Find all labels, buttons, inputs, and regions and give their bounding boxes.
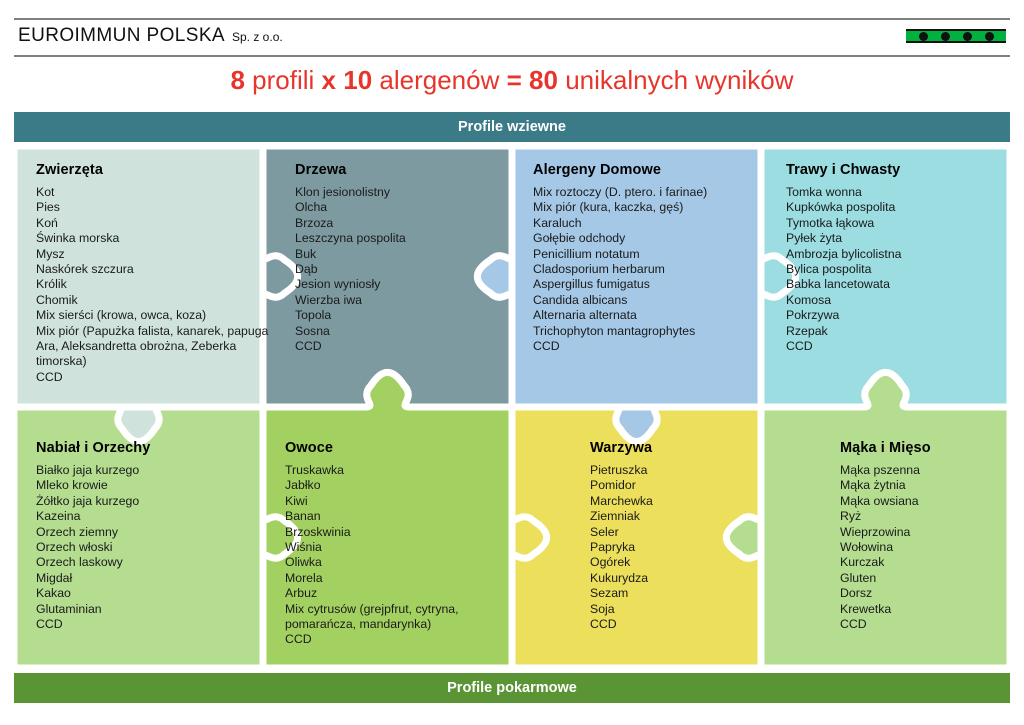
allergen-item: Tomka wonna (786, 185, 1001, 200)
allergen-item: Banan (285, 509, 500, 524)
allergen-list: Białko jaja kurzegoMleko krowieŻółtko ja… (36, 463, 271, 632)
allergen-item: CCD (285, 632, 500, 647)
allergen-item: Mąka pszenna (840, 463, 1015, 478)
allergen-item: Tymotka łąkowa (786, 216, 1001, 231)
allergen-item: Królik (36, 277, 271, 292)
headline-profiles-count: 8 (230, 65, 244, 95)
allergen-item: CCD (786, 339, 1001, 354)
company-legal-form: Sp. z o.o. (232, 30, 283, 44)
piece-title: Owoce (285, 440, 500, 456)
banner-top-label: Profile wziewne (458, 119, 566, 135)
allergen-item: Arbuz (285, 586, 500, 601)
allergen-item: Mix piór (kura, kaczka, gęś) (533, 200, 773, 215)
piece-text-trawy-i-chwasty: Trawy i Chwasty Tomka wonnaKupkówka posp… (786, 162, 1001, 354)
logo-dot-icon (985, 32, 994, 41)
allergen-item: Papryka (590, 540, 780, 555)
allergen-item: Mix cytrusów (grejpfrut, cytryna, pomara… (285, 602, 500, 633)
allergen-item: Alternaria alternata (533, 308, 773, 323)
allergen-item: Kot (36, 185, 271, 200)
headline-allergens-count: 10 (343, 65, 372, 95)
allergen-item: Penicillium notatum (533, 247, 773, 262)
allergen-item: Soja (590, 602, 780, 617)
allergen-item: Kurczak (840, 555, 1015, 570)
allergen-item: Gluten (840, 571, 1015, 586)
allergen-list: PietruszkaPomidorMarchewkaZiemniakSelerP… (590, 463, 780, 632)
allergen-item: Truskawka (285, 463, 500, 478)
allergen-item: Cladosporium herbarum (533, 262, 773, 277)
allergen-item: Kakao (36, 586, 271, 601)
allergen-item: Ryż (840, 509, 1015, 524)
allergen-item: Wiśnia (285, 540, 500, 555)
allergen-item: Marchewka (590, 494, 780, 509)
allergen-item: Trichophyton mantagrophytes (533, 324, 773, 339)
allergen-item: Sosna (295, 324, 505, 339)
header-rule-bottom (14, 55, 1010, 57)
allergen-item: Pomidor (590, 478, 780, 493)
allergen-item: Buk (295, 247, 505, 262)
allergen-item: Babka lancetowata (786, 277, 1001, 292)
euroimmun-logo (906, 29, 1006, 43)
logo-dot-icon (919, 32, 928, 41)
headline-equals-sign: = (507, 65, 522, 95)
headline-results-word: unikalnych wyników (565, 65, 793, 95)
allergen-item: Aspergillus fumigatus (533, 277, 773, 292)
allergen-item: Koń (36, 216, 271, 231)
company-brand: EUROIMMUN POLSKASp. z o.o. (18, 25, 283, 47)
allergen-item: Kukurydza (590, 571, 780, 586)
header-rule-top (14, 18, 1010, 20)
allergen-item: Ambrozja bylicolistna (786, 247, 1001, 262)
allergen-item: Glutaminian (36, 602, 271, 617)
allergen-item: Mąka żytnia (840, 478, 1015, 493)
allergen-list: Klon jesionolistnyOlchaBrzozaLeszczyna p… (295, 185, 505, 354)
allergen-item: CCD (36, 617, 271, 632)
allergen-item: Orzech włoski (36, 540, 271, 555)
allergen-item: Świnka morska (36, 231, 271, 246)
allergen-item: Orzech laskowy (36, 555, 271, 570)
allergen-item: Gołębie odchody (533, 231, 773, 246)
allergen-item: Mysz (36, 247, 271, 262)
allergen-item: Kazeina (36, 509, 271, 524)
allergen-item: Dorsz (840, 586, 1015, 601)
allergen-item: Pyłek żyta (786, 231, 1001, 246)
allergen-item: Wieprzowina (840, 525, 1015, 540)
allergen-item: Mix piór (Papużka falista, kanarek, papu… (36, 324, 271, 370)
allergen-item: Dąb (295, 262, 505, 277)
allergen-item: Candida albicans (533, 293, 773, 308)
piece-title: Alergeny Domowe (533, 162, 773, 178)
allergen-item: Topola (295, 308, 505, 323)
headline-results-count: 80 (529, 65, 558, 95)
piece-title: Drzewa (295, 162, 505, 178)
allergen-item: Bylica pospolita (786, 262, 1001, 277)
allergen-list: Mąka pszennaMąka żytniaMąka owsianaRyżWi… (840, 463, 1015, 632)
piece-text-warzywa: Warzywa PietruszkaPomidorMarchewkaZiemni… (590, 440, 780, 632)
allergen-item: Mix roztoczy (D. ptero. i farinae) (533, 185, 773, 200)
company-name: EUROIMMUN POLSKA (18, 25, 225, 46)
allergen-list: Tomka wonnaKupkówka pospolitaTymotka łąk… (786, 185, 1001, 354)
allergen-item: Ziemniak (590, 509, 780, 524)
allergen-item: Sezam (590, 586, 780, 601)
allergen-item: Naskórek szczura (36, 262, 271, 277)
allergen-item: Kupkówka pospolita (786, 200, 1001, 215)
allergen-item: Brzoskwinia (285, 525, 500, 540)
allergen-item: Brzoza (295, 216, 505, 231)
allergen-item: Morela (285, 571, 500, 586)
banner-food-profiles: Profile pokarmowe (14, 673, 1010, 703)
allergen-list: TruskawkaJabłkoKiwiBananBrzoskwiniaWiśni… (285, 463, 500, 648)
banner-inhalant-profiles: Profile wziewne (14, 112, 1010, 142)
allergen-item: Mix sierści (krowa, owca, koza) (36, 308, 271, 323)
allergen-item: Olcha (295, 200, 505, 215)
piece-title: Warzywa (590, 440, 780, 456)
allergen-item: Migdał (36, 571, 271, 586)
logo-dot-icon (963, 32, 972, 41)
allergen-item: Klon jesionolistny (295, 185, 505, 200)
allergen-item: Jabłko (285, 478, 500, 493)
headline-profiles-word: profili (252, 65, 314, 95)
allergen-item: Pies (36, 200, 271, 215)
allergen-item: Kiwi (285, 494, 500, 509)
headline-allergens-word: alergenów (379, 65, 499, 95)
page-title: 8 profili x 10 alergenów = 80 unikalnych… (0, 63, 1024, 97)
piece-title: Trawy i Chwasty (786, 162, 1001, 178)
allergen-item: Orzech ziemny (36, 525, 271, 540)
allergen-item: CCD (36, 370, 271, 385)
allergen-item: Leszczyna pospolita (295, 231, 505, 246)
piece-title: Mąka i Mięso (840, 440, 1015, 456)
allergen-item: Chomik (36, 293, 271, 308)
allergen-item: CCD (533, 339, 773, 354)
piece-text-maka-i-mieso: Mąka i Mięso Mąka pszennaMąka żytniaMąka… (840, 440, 1015, 632)
piece-title: Zwierzęta (36, 162, 271, 178)
piece-text-owoce: Owoce TruskawkaJabłkoKiwiBananBrzoskwini… (285, 440, 500, 648)
allergen-item: Wierzba iwa (295, 293, 505, 308)
logo-dot-icon (941, 32, 950, 41)
allergen-item: Komosa (786, 293, 1001, 308)
allergen-item: CCD (590, 617, 780, 632)
piece-text-drzewa: Drzewa Klon jesionolistnyOlchaBrzozaLesz… (295, 162, 505, 354)
allergen-item: CCD (840, 617, 1015, 632)
headline-times-sign: x (322, 65, 336, 95)
allergen-list: Mix roztoczy (D. ptero. i farinae)Mix pi… (533, 185, 773, 354)
piece-text-nabial-i-orzechy: Nabiał i Orzechy Białko jaja kurzegoMlek… (36, 440, 271, 632)
allergen-item: Mąka owsiana (840, 494, 1015, 509)
allergen-item: Karaluch (533, 216, 773, 231)
piece-text-zwierzeta: Zwierzęta KotPiesKońŚwinka morskaMyszNas… (36, 162, 271, 385)
allergen-item: Jesion wyniosły (295, 277, 505, 292)
allergen-item: Seler (590, 525, 780, 540)
allergen-item: Żółtko jaja kurzego (36, 494, 271, 509)
piece-text-alergeny-domowe: Alergeny Domowe Mix roztoczy (D. ptero. … (533, 162, 773, 354)
allergen-item: Białko jaja kurzego (36, 463, 271, 478)
allergen-item: Rzepak (786, 324, 1001, 339)
allergen-item: Wołowina (840, 540, 1015, 555)
allergen-item: Krewetka (840, 602, 1015, 617)
banner-bottom-label: Profile pokarmowe (447, 680, 577, 696)
allergen-item: Oliwka (285, 555, 500, 570)
poster-root: EUROIMMUN POLSKASp. z o.o. 8 profili x 1… (0, 0, 1024, 725)
allergen-item: Mleko krowie (36, 478, 271, 493)
allergen-item: Pietruszka (590, 463, 780, 478)
allergen-item: CCD (295, 339, 505, 354)
allergen-item: Pokrzywa (786, 308, 1001, 323)
allergen-list: KotPiesKońŚwinka morskaMyszNaskórek szcz… (36, 185, 271, 385)
piece-title: Nabiał i Orzechy (36, 440, 271, 456)
allergen-item: Ogórek (590, 555, 780, 570)
